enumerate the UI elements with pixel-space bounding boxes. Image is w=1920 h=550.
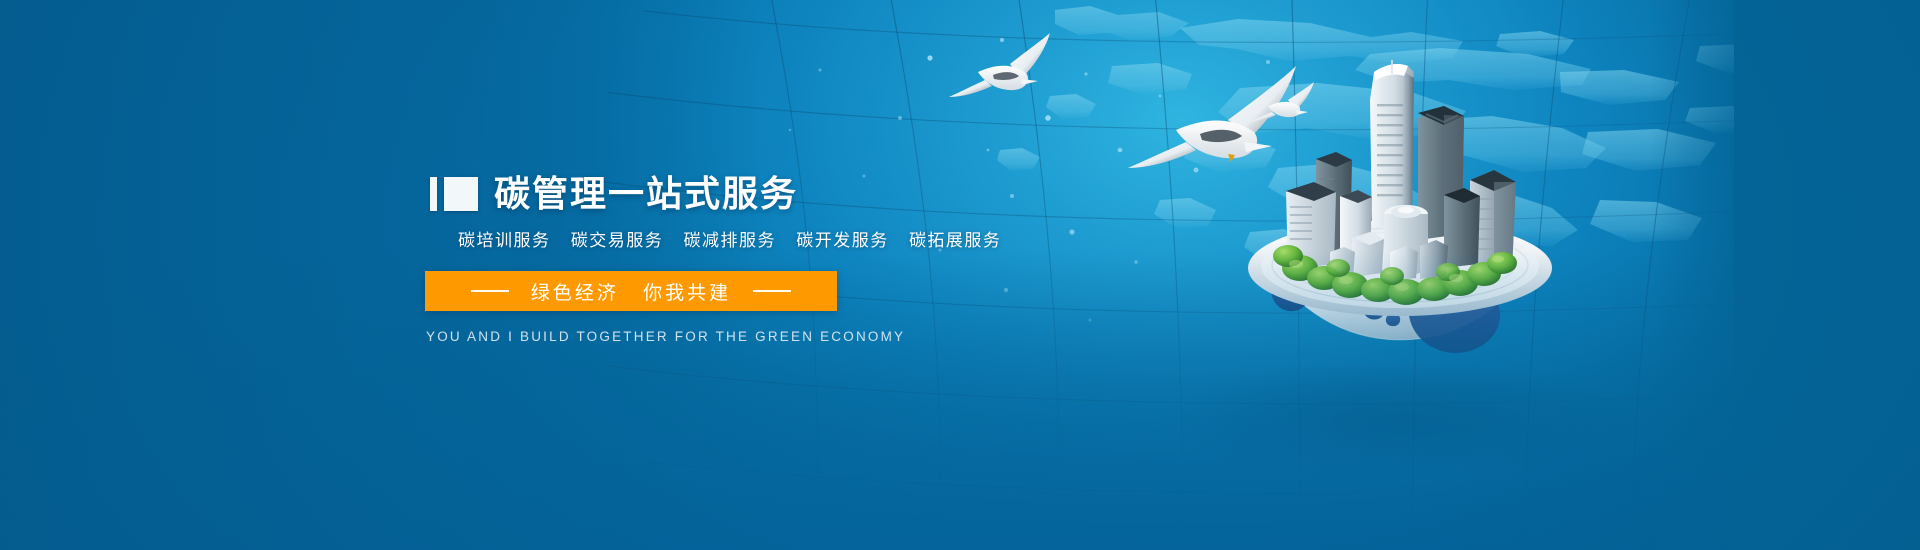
slogan-banner: 绿色经济 你我共建 [425, 271, 837, 311]
page-title: 碳管理一站式服务 [494, 176, 798, 212]
slogan-right-rule [753, 290, 791, 292]
marketing-banner: 碳管理一站式服务 碳培训服务 碳交易服务 碳减排服务 碳开发服务 碳拓展服务 绿… [0, 0, 1920, 550]
mark-bar-icon [430, 177, 437, 211]
slogan-part-1: 绿色经济 [531, 283, 619, 304]
service-item-2: 碳交易服务 [571, 231, 664, 250]
service-item-5: 碳拓展服务 [909, 231, 1002, 250]
banner-content: 碳管理一站式服务 碳培训服务 碳交易服务 碳减排服务 碳开发服务 碳拓展服务 绿… [430, 176, 1050, 344]
slogan-part-2: 你我共建 [643, 283, 731, 304]
service-item-4: 碳开发服务 [796, 231, 889, 250]
title-row: 碳管理一站式服务 [430, 176, 1050, 212]
slogan-text: 绿色经济 你我共建 [531, 278, 731, 305]
service-item-3: 碳减排服务 [683, 231, 776, 250]
slogan-left-rule [471, 290, 509, 292]
service-item-1: 碳培训服务 [458, 231, 551, 250]
service-list: 碳培训服务 碳交易服务 碳减排服务 碳开发服务 碳拓展服务 [458, 226, 1050, 251]
mark-square-icon [444, 177, 478, 211]
bar-square-mark-icon [430, 177, 478, 211]
english-tagline: YOU AND I BUILD TOGETHER FOR THE GREEN E… [426, 329, 838, 344]
